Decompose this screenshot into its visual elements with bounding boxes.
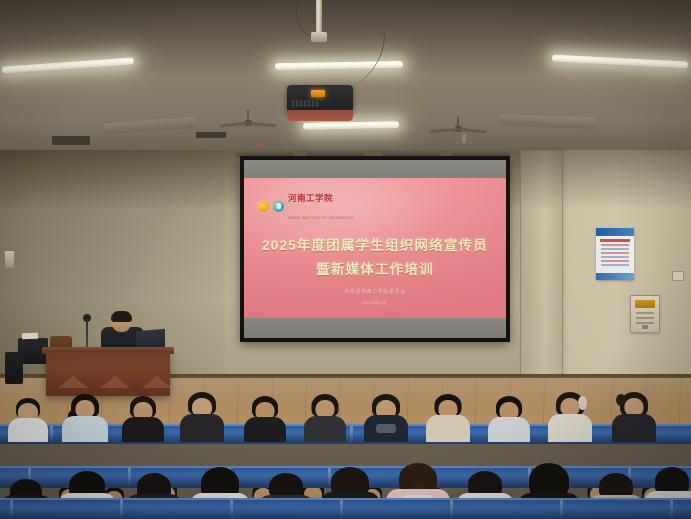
audience-member xyxy=(304,394,346,442)
university-name: 河南工学院 xyxy=(288,193,333,203)
audience-member xyxy=(612,392,656,442)
smoke-detector-icon xyxy=(258,142,263,147)
slide-logo-row: 河南工学院 HENAN INSTITUTE OF TECHNOLOGY xyxy=(258,188,354,224)
lecture-hall-photo: 河南工学院 HENAN INSTITUTE OF TECHNOLOGY 2025… xyxy=(0,0,691,519)
audience-member xyxy=(364,394,408,442)
university-name-en: HENAN INSTITUTE OF TECHNOLOGY xyxy=(288,216,354,220)
poster-footer-band xyxy=(596,273,634,280)
audio-equipment-box-2 xyxy=(5,352,23,384)
ceiling-projector xyxy=(287,85,353,113)
audience-member xyxy=(426,394,470,442)
audience-member xyxy=(122,396,164,442)
audience-member xyxy=(180,392,224,442)
wall-notice-poster xyxy=(596,228,634,280)
audience-member xyxy=(488,396,530,442)
slide-organizer: 共青团河南工学院委员会 xyxy=(244,288,506,295)
university-logo-text: 河南工学院 HENAN INSTITUTE OF TECHNOLOGY xyxy=(288,188,354,224)
seat-row-3[interactable] xyxy=(0,498,691,519)
audience-member xyxy=(8,398,48,442)
projector-lens-icon xyxy=(311,90,325,97)
wall-seam-2 xyxy=(562,150,563,388)
sprinkler-head-icon xyxy=(462,134,466,143)
poster-title-line xyxy=(600,239,630,242)
wall-control-panel[interactable] xyxy=(630,295,660,333)
audience-area: NEW xyxy=(0,388,691,519)
circular-seal-icon xyxy=(273,201,284,212)
audience-member xyxy=(548,392,592,442)
wall-seam xyxy=(520,150,521,388)
presenter-hair xyxy=(111,311,132,322)
control-panel-button[interactable] xyxy=(642,325,648,329)
audience-member xyxy=(62,394,108,442)
papers-on-table xyxy=(22,333,38,340)
screen-letterbox-bottom xyxy=(244,318,506,338)
control-panel-display xyxy=(635,300,655,308)
ceiling-vent xyxy=(52,136,90,145)
projector-base xyxy=(287,110,353,121)
ceiling-fan-right xyxy=(430,116,486,140)
audience-member xyxy=(244,396,286,442)
wall-outlet[interactable] xyxy=(672,271,684,281)
ceiling-fan-left xyxy=(220,110,276,134)
podium-panel-detail xyxy=(58,376,172,388)
presentation-slide: 河南工学院 HENAN INSTITUTE OF TECHNOLOGY 2025… xyxy=(244,178,506,318)
slide-date: 2025年3月 xyxy=(244,300,506,306)
screen-letterbox-top xyxy=(244,160,506,178)
torch-emblem-icon xyxy=(258,201,269,212)
projector-vent xyxy=(292,100,318,107)
wall-light-switch[interactable] xyxy=(4,250,15,268)
slide-title-line-1: 2025年度团属学生组织网络宣传员 xyxy=(244,234,506,254)
slide-title-line-2: 暨新媒体工作培训 xyxy=(244,258,506,278)
poster-header-band xyxy=(596,228,634,236)
projection-screen: 河南工学院 HENAN INSTITUTE OF TECHNOLOGY 2025… xyxy=(240,156,510,342)
projector-mount-pipe xyxy=(316,0,322,34)
